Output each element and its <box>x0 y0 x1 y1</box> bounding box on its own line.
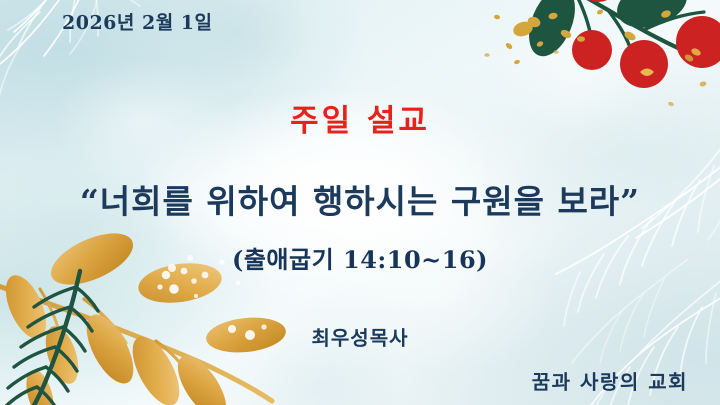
church-name: 꿈과 사랑의 교회 <box>532 366 688 395</box>
preacher-name: 최우성목사 <box>0 322 720 351</box>
scripture-reference: (출애굽기 14:10~16) <box>0 240 720 275</box>
sermon-title: “너희를 위하여 행하시는 구원을 보라” <box>0 175 720 223</box>
sermon-slide: 2026년 2월 1일 주일 설교 “너희를 위하여 행하시는 구원을 보라” … <box>0 0 720 405</box>
sermon-kicker-label: 주일 설교 <box>0 95 720 140</box>
sermon-date: 2026년 2월 1일 <box>62 8 213 35</box>
